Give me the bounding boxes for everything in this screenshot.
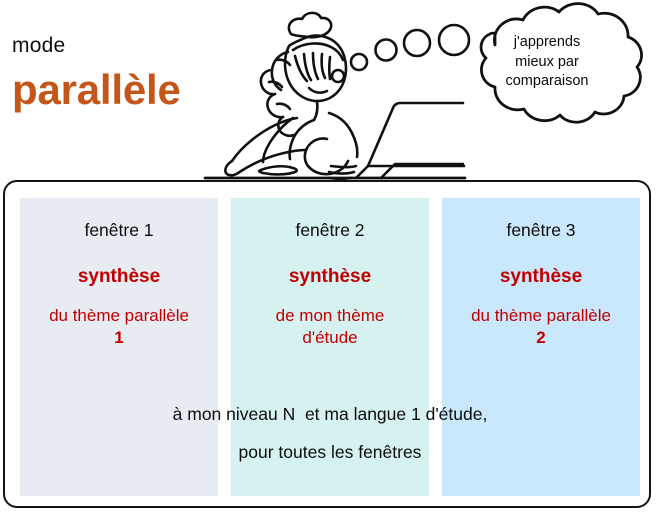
- thought-dot-1: [332, 70, 344, 82]
- window-column-2[interactable]: fenêtre 2 synthèse de mon thème d'étude: [231, 198, 429, 496]
- window-1-theme-line-2: 1: [114, 328, 123, 347]
- windows-panel-frame: fenêtre 1 synthèse du thème parallèle 1 …: [3, 180, 651, 508]
- thought-dot-5: [439, 25, 469, 55]
- thought-dot-3: [376, 40, 397, 61]
- window-column-3-content: fenêtre 3 synthèse du thème parallèle 2: [442, 220, 640, 349]
- window-3-theme: du thème parallèle 2: [446, 305, 636, 349]
- window-2-theme: de mon thème d'étude: [235, 305, 425, 349]
- bubble-line-2: mieux par: [472, 53, 622, 73]
- window-3-label: fenêtre 3: [446, 220, 636, 241]
- mode-label: mode: [12, 34, 65, 58]
- window-1-theme-line-1: du thème parallèle: [49, 306, 189, 325]
- window-column-2-content: fenêtre 2 synthèse de mon thème d'étude: [231, 220, 429, 349]
- mode-title: parallèle: [12, 66, 181, 114]
- window-2-label: fenêtre 2: [235, 220, 425, 241]
- window-2-theme-line-1: de mon thème: [276, 306, 385, 325]
- window-2-synthesis-label: synthèse: [235, 266, 425, 288]
- windows-columns: fenêtre 1 synthèse du thème parallèle 1 …: [20, 198, 640, 496]
- window-3-theme-line-2: 2: [536, 328, 545, 347]
- window-3-theme-line-1: du thème parallèle: [471, 306, 611, 325]
- window-1-theme: du thème parallèle 1: [24, 305, 214, 349]
- window-column-1-content: fenêtre 1 synthèse du thème parallèle 1: [20, 220, 218, 349]
- bubble-line-3: comparaison: [472, 72, 622, 92]
- window-3-synthesis-label: synthèse: [446, 266, 636, 288]
- thought-bubble-text: j'apprends mieux par comparaison: [472, 33, 622, 92]
- header-zone: mode parallèle: [0, 0, 657, 178]
- window-1-synthesis-label: synthèse: [24, 266, 214, 288]
- thought-dot-4: [404, 30, 430, 56]
- window-column-3[interactable]: fenêtre 3 synthèse du thème parallèle 2: [442, 198, 640, 496]
- window-1-label: fenêtre 1: [24, 220, 214, 241]
- thought-dot-2: [351, 54, 367, 70]
- bubble-line-1: j'apprends: [472, 33, 622, 53]
- window-2-theme-line-2: d'étude: [302, 328, 357, 347]
- window-column-1[interactable]: fenêtre 1 synthèse du thème parallèle 1: [20, 198, 218, 496]
